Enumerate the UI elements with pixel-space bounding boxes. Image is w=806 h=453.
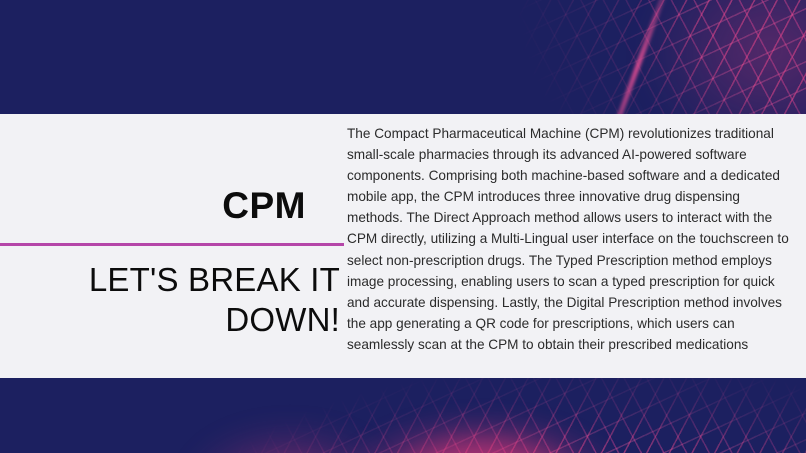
page-title: CPM bbox=[222, 187, 306, 224]
headline-text: LET'S BREAK IT DOWN! bbox=[0, 260, 340, 341]
chevron-pattern-layer-c bbox=[0, 0, 806, 114]
top-decorative-band bbox=[0, 0, 806, 114]
accent-divider bbox=[0, 243, 344, 246]
left-title-column: CPM LET'S BREAK IT DOWN! bbox=[0, 114, 344, 378]
slide-content-area: CPM LET'S BREAK IT DOWN! The Compact Pha… bbox=[0, 114, 806, 378]
body-text-column: The Compact Pharmaceutical Machine (CPM)… bbox=[347, 123, 798, 355]
body-paragraph: The Compact Pharmaceutical Machine (CPM)… bbox=[347, 123, 798, 355]
bottom-decorative-band bbox=[0, 378, 806, 453]
presentation-slide: CPM LET'S BREAK IT DOWN! The Compact Pha… bbox=[0, 0, 806, 453]
chevron-pattern-layer-c-bottom bbox=[0, 378, 806, 453]
